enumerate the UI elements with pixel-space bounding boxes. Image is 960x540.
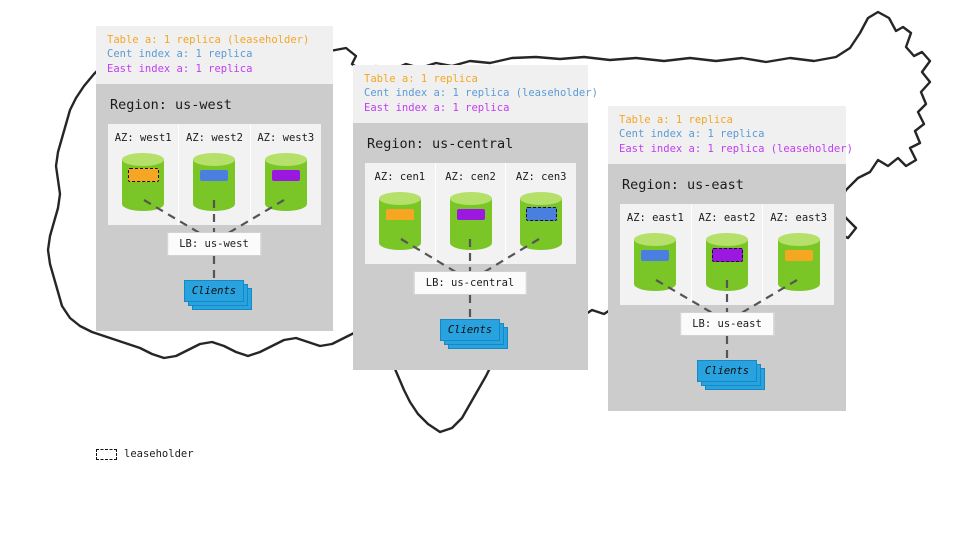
clients-us-east[interactable]: Clients [697,360,761,386]
clients-stack[interactable]: Clients [440,319,504,345]
replica-line-east-index: East index a: 1 replica [107,62,322,76]
node-cylinder[interactable] [379,192,421,254]
cylinder-top [193,153,235,166]
replica-line-cent-index: Cent index a: 1 replica (leaseholder) [364,86,577,100]
replica-line-east-index: East index a: 1 replica (leaseholder) [619,142,835,156]
az-label: AZ: west2 [186,132,243,144]
az-cen2[interactable]: AZ: cen2 [435,163,506,264]
lb-label: LB: us-west [179,238,249,250]
load-balancer-us-east[interactable]: LB: us-east [680,312,774,336]
cylinder-body [634,239,676,291]
az-cen3[interactable]: AZ: cen3 [505,163,576,264]
az-west3[interactable]: AZ: west3 [250,124,321,225]
clients-label: Clients [448,324,492,336]
replica-bar-table [785,250,813,261]
cylinder-top [520,192,562,205]
replica-line-cent-index: Cent index a: 1 replica [619,127,835,141]
az-label: AZ: cen2 [445,171,496,183]
node-cylinder[interactable] [193,153,235,215]
replica-bar-cent-index [641,250,669,261]
az-container-us-east: AZ: east1 AZ: east2 AZ: east3 [620,204,834,305]
clients-card-front[interactable]: Clients [440,319,500,341]
az-east3[interactable]: AZ: east3 [762,204,834,305]
az-label: AZ: west1 [115,132,172,144]
clients-card-front[interactable]: Clients [184,280,244,302]
region-panel-us-east: Table a: 1 replica Cent index a: 1 repli… [608,106,846,411]
az-label: AZ: cen1 [375,171,426,183]
legend: leaseholder [96,448,194,460]
az-label: AZ: west3 [257,132,314,144]
diagram-canvas: Table a: 1 replica (leaseholder) Cent in… [0,0,960,540]
cylinder-top [778,233,820,246]
node-cylinder[interactable] [450,192,492,254]
cylinder-top [379,192,421,205]
az-container-us-central: AZ: cen1 AZ: cen2 AZ: cen3 [365,163,576,264]
cylinder-body [193,159,235,211]
cylinder-body [778,239,820,291]
cylinder-body [450,198,492,250]
replica-bar-table-leaseholder [128,168,159,182]
node-cylinder[interactable] [122,153,164,215]
cylinder-top [122,153,164,166]
replica-summary-us-east: Table a: 1 replica Cent index a: 1 repli… [608,106,846,164]
az-label: AZ: cen3 [516,171,567,183]
replica-bar-east-index [457,209,485,220]
replica-line-table: Table a: 1 replica (leaseholder) [107,33,322,47]
node-cylinder[interactable] [520,192,562,254]
cylinder-body [706,239,748,291]
replica-bar-east-index [272,170,300,181]
clients-stack[interactable]: Clients [184,280,248,306]
clients-us-central[interactable]: Clients [440,319,504,345]
replica-bar-cent-index-leaseholder [526,207,557,221]
lb-label: LB: us-central [426,277,515,289]
replica-line-east-index: East index a: 1 replica [364,101,577,115]
clients-label: Clients [192,285,236,297]
cylinder-top [634,233,676,246]
region-title-us-west: Region: us-west [96,84,333,124]
az-west1[interactable]: AZ: west1 [108,124,178,225]
az-west2[interactable]: AZ: west2 [178,124,249,225]
region-panel-us-west: Table a: 1 replica (leaseholder) Cent in… [96,26,333,331]
az-east2[interactable]: AZ: east2 [691,204,763,305]
az-label: AZ: east2 [699,212,756,224]
replica-bar-east-index-leaseholder [712,248,743,262]
node-cylinder[interactable] [634,233,676,295]
load-balancer-us-central[interactable]: LB: us-central [414,271,527,295]
az-east1[interactable]: AZ: east1 [620,204,691,305]
cylinder-body [520,198,562,250]
replica-summary-us-west: Table a: 1 replica (leaseholder) Cent in… [96,26,333,84]
cylinder-body [122,159,164,211]
replica-summary-us-central: Table a: 1 replica Cent index a: 1 repli… [353,65,588,123]
lb-label: LB: us-east [692,318,762,330]
clients-card-front[interactable]: Clients [697,360,757,382]
region-title-us-central: Region: us-central [353,123,588,163]
replica-bar-cent-index [200,170,228,181]
region-panel-us-central: Table a: 1 replica Cent index a: 1 repli… [353,65,588,370]
cylinder-top [450,192,492,205]
replica-line-table: Table a: 1 replica [364,72,577,86]
clients-stack[interactable]: Clients [697,360,761,386]
cylinder-top [706,233,748,246]
legend-label: leaseholder [124,448,194,460]
az-container-us-west: AZ: west1 AZ: west2 AZ: west3 [108,124,321,225]
cylinder-top [265,153,307,166]
az-label: AZ: east1 [627,212,684,224]
replica-bar-table [386,209,414,220]
replica-line-cent-index: Cent index a: 1 replica [107,47,322,61]
clients-us-west[interactable]: Clients [184,280,248,306]
clients-label: Clients [705,365,749,377]
az-cen1[interactable]: AZ: cen1 [365,163,435,264]
az-label: AZ: east3 [770,212,827,224]
replica-line-table: Table a: 1 replica [619,113,835,127]
region-title-us-east: Region: us-east [608,164,846,204]
cylinder-body [379,198,421,250]
node-cylinder[interactable] [706,233,748,295]
node-cylinder[interactable] [265,153,307,215]
node-cylinder[interactable] [778,233,820,295]
cylinder-body [265,159,307,211]
dashed-rectangle-icon [96,449,117,460]
load-balancer-us-west[interactable]: LB: us-west [167,232,261,256]
